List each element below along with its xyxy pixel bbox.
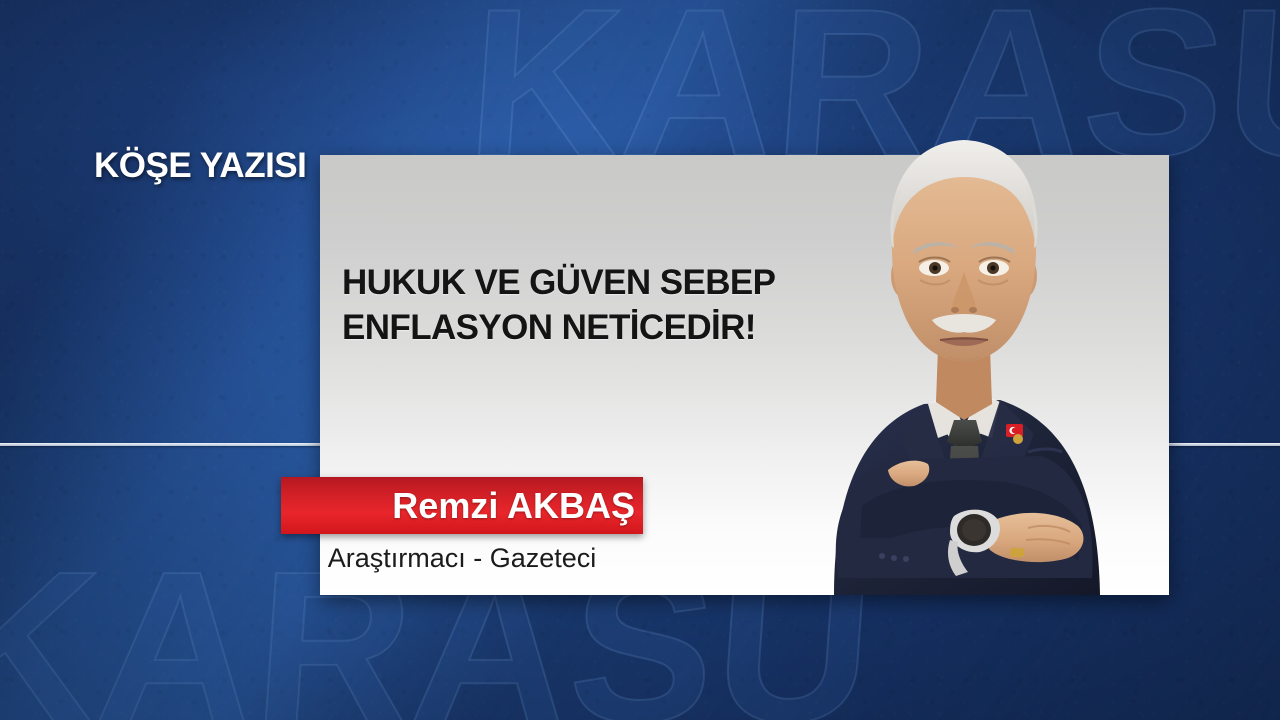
author-name: Remzi AKBAŞ xyxy=(392,485,635,527)
author-name-bar: Remzi AKBAŞ xyxy=(281,477,643,534)
headline: HUKUK VE GÜVEN SEBEP ENFLASYON NETİCEDİR… xyxy=(342,261,882,351)
kicker-label: KÖŞE YAZISI xyxy=(94,146,306,186)
headline-line-1: HUKUK VE GÜVEN SEBEP xyxy=(342,263,775,302)
author-role: Araştırmacı - Gazeteci xyxy=(281,543,643,574)
columnist-banner: KARASU KARASU KÖŞE YAZISI HUKUK VE GÜVEN… xyxy=(0,0,1280,720)
headline-line-2: ENFLASYON NETİCEDİR! xyxy=(342,306,882,351)
